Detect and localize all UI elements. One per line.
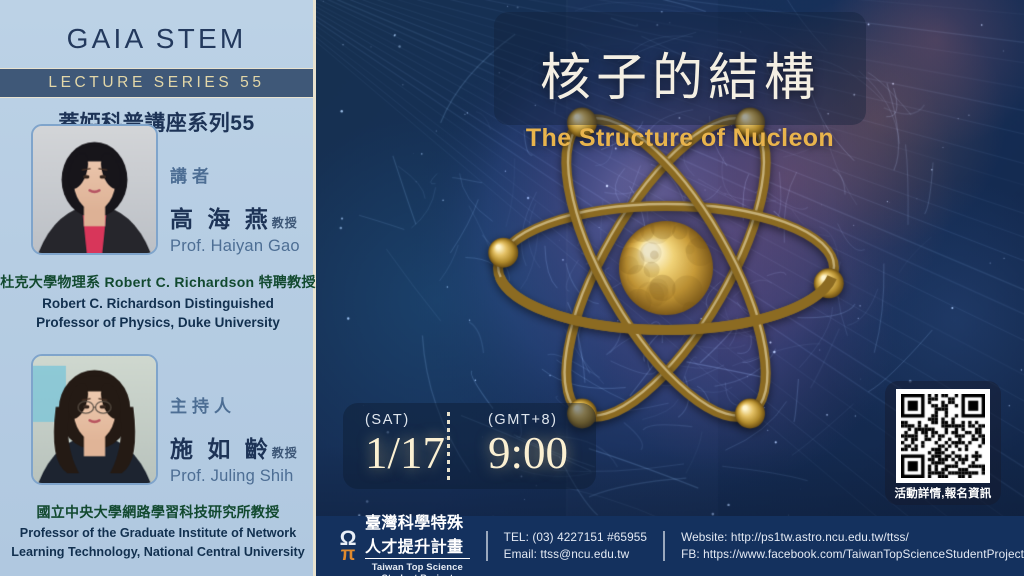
host-role-label: 主持人 xyxy=(170,392,316,417)
datetime-divider xyxy=(447,412,450,481)
time-column: (GMT+8) 9:00 xyxy=(488,412,568,478)
host-text: 主持人 施 如 齡教授 Prof. Juling Shih xyxy=(170,392,316,486)
qr-caption: 活動詳情,報名資訊 xyxy=(885,485,1001,501)
speaker-affiliation-en-line1: Robert C. Richardson Distinguished xyxy=(0,294,316,313)
qr-code-icon[interactable] xyxy=(896,389,990,483)
qr-card[interactable]: 活動詳情,報名資訊 xyxy=(885,381,1001,505)
timezone-label: (GMT+8) xyxy=(488,412,568,428)
org-name-en: Taiwan Top Science Student Project xyxy=(365,562,470,576)
poster-root: GAIA STEM LECTURE SERIES 55 蓋婭科普講座系列55 講… xyxy=(0,0,1024,576)
speaker-photo-frame xyxy=(31,124,158,255)
host-affiliation-en-line2: Learning Technology, National Central Un… xyxy=(0,543,316,562)
host-affiliation-en-line1: Professor of the Graduate Institute of N… xyxy=(0,524,316,543)
page-title: GAIA STEM xyxy=(0,0,313,55)
lecture-title-zh: 核子的結構 xyxy=(494,36,866,110)
speaker-title-zh: 教授 xyxy=(272,216,298,230)
main-visual-panel: 核子的結構 The Structure of Nucleon (SAT) 1/1… xyxy=(316,0,1024,576)
speaker-affiliation-en-line2: Professor of Physics, Duke University xyxy=(0,313,316,332)
speaker-affiliation-zh: 杜克大學物理系 Robert C. Richardson 特聘教授 xyxy=(0,272,316,292)
sidebar: GAIA STEM LECTURE SERIES 55 蓋婭科普講座系列55 講… xyxy=(0,0,316,576)
pi-icon: π xyxy=(335,545,361,564)
host-name-zh: 施 如 齡 xyxy=(170,436,272,462)
day-label: (SAT) xyxy=(365,412,445,428)
org-name-zh: 臺灣科學特殊人才提升計畫 xyxy=(365,509,470,559)
speaker-name-en: Prof. Haiyan Gao xyxy=(170,237,316,256)
speaker-portrait xyxy=(33,126,156,253)
footer-contact: TEL: (03) 4227151 #65955 Email: ttss@ncu… xyxy=(504,529,647,563)
datetime-panel: (SAT) 1/17 (GMT+8) 9:00 xyxy=(343,403,596,489)
host-affiliation-zh: 國立中央大學網路學習科技研究所教授 xyxy=(0,502,316,522)
series-band: LECTURE SERIES 55 xyxy=(0,68,313,98)
footer-email[interactable]: Email: ttss@ncu.edu.tw xyxy=(504,546,647,563)
lecture-title-en: The Structure of Nucleon xyxy=(454,124,906,153)
org-name-group: 臺灣科學特殊人才提升計畫 Taiwan Top Science Student … xyxy=(365,509,470,576)
footer-tel: TEL: (03) 4227151 #65955 xyxy=(504,529,647,546)
host-portrait xyxy=(33,356,156,483)
host-photo-frame xyxy=(31,354,158,485)
speaker-name-row: 高 海 燕教授 xyxy=(170,200,316,234)
speaker-role-label: 講者 xyxy=(170,162,316,187)
date-column: (SAT) 1/17 xyxy=(365,412,445,478)
host-name-row: 施 如 齡教授 xyxy=(170,430,316,464)
series-label: LECTURE SERIES 55 xyxy=(48,74,264,92)
speaker-name-zh: 高 海 燕 xyxy=(170,206,272,232)
footer-facebook[interactable]: FB: https://www.facebook.com/TaiwanTopSc… xyxy=(681,546,1024,563)
footer-divider-2 xyxy=(663,531,665,561)
host-affiliation-en: Professor of the Graduate Institute of N… xyxy=(0,524,316,562)
speaker-text: 講者 高 海 燕教授 Prof. Haiyan Gao xyxy=(170,162,316,256)
host-title-zh: 教授 xyxy=(272,446,298,460)
speaker-affiliation-en: Robert C. Richardson Distinguished Profe… xyxy=(0,294,316,332)
footer-links: Website: http://ps1tw.astro.ncu.edu.tw/t… xyxy=(681,529,1024,563)
footer-bar: Ω π 臺灣科學特殊人才提升計畫 Taiwan Top Science Stud… xyxy=(316,516,1024,576)
host-name-en: Prof. Juling Shih xyxy=(170,467,316,486)
time-value: 9:00 xyxy=(488,428,568,478)
footer-website[interactable]: Website: http://ps1tw.astro.ncu.edu.tw/t… xyxy=(681,529,1024,546)
omega-pi-logo-icon: Ω π xyxy=(335,530,361,563)
org-logo: Ω π 臺灣科學特殊人才提升計畫 Taiwan Top Science Stud… xyxy=(335,509,470,576)
qr-canvas xyxy=(901,394,985,478)
date-value: 1/17 xyxy=(365,428,445,478)
footer-divider-1 xyxy=(486,531,488,561)
